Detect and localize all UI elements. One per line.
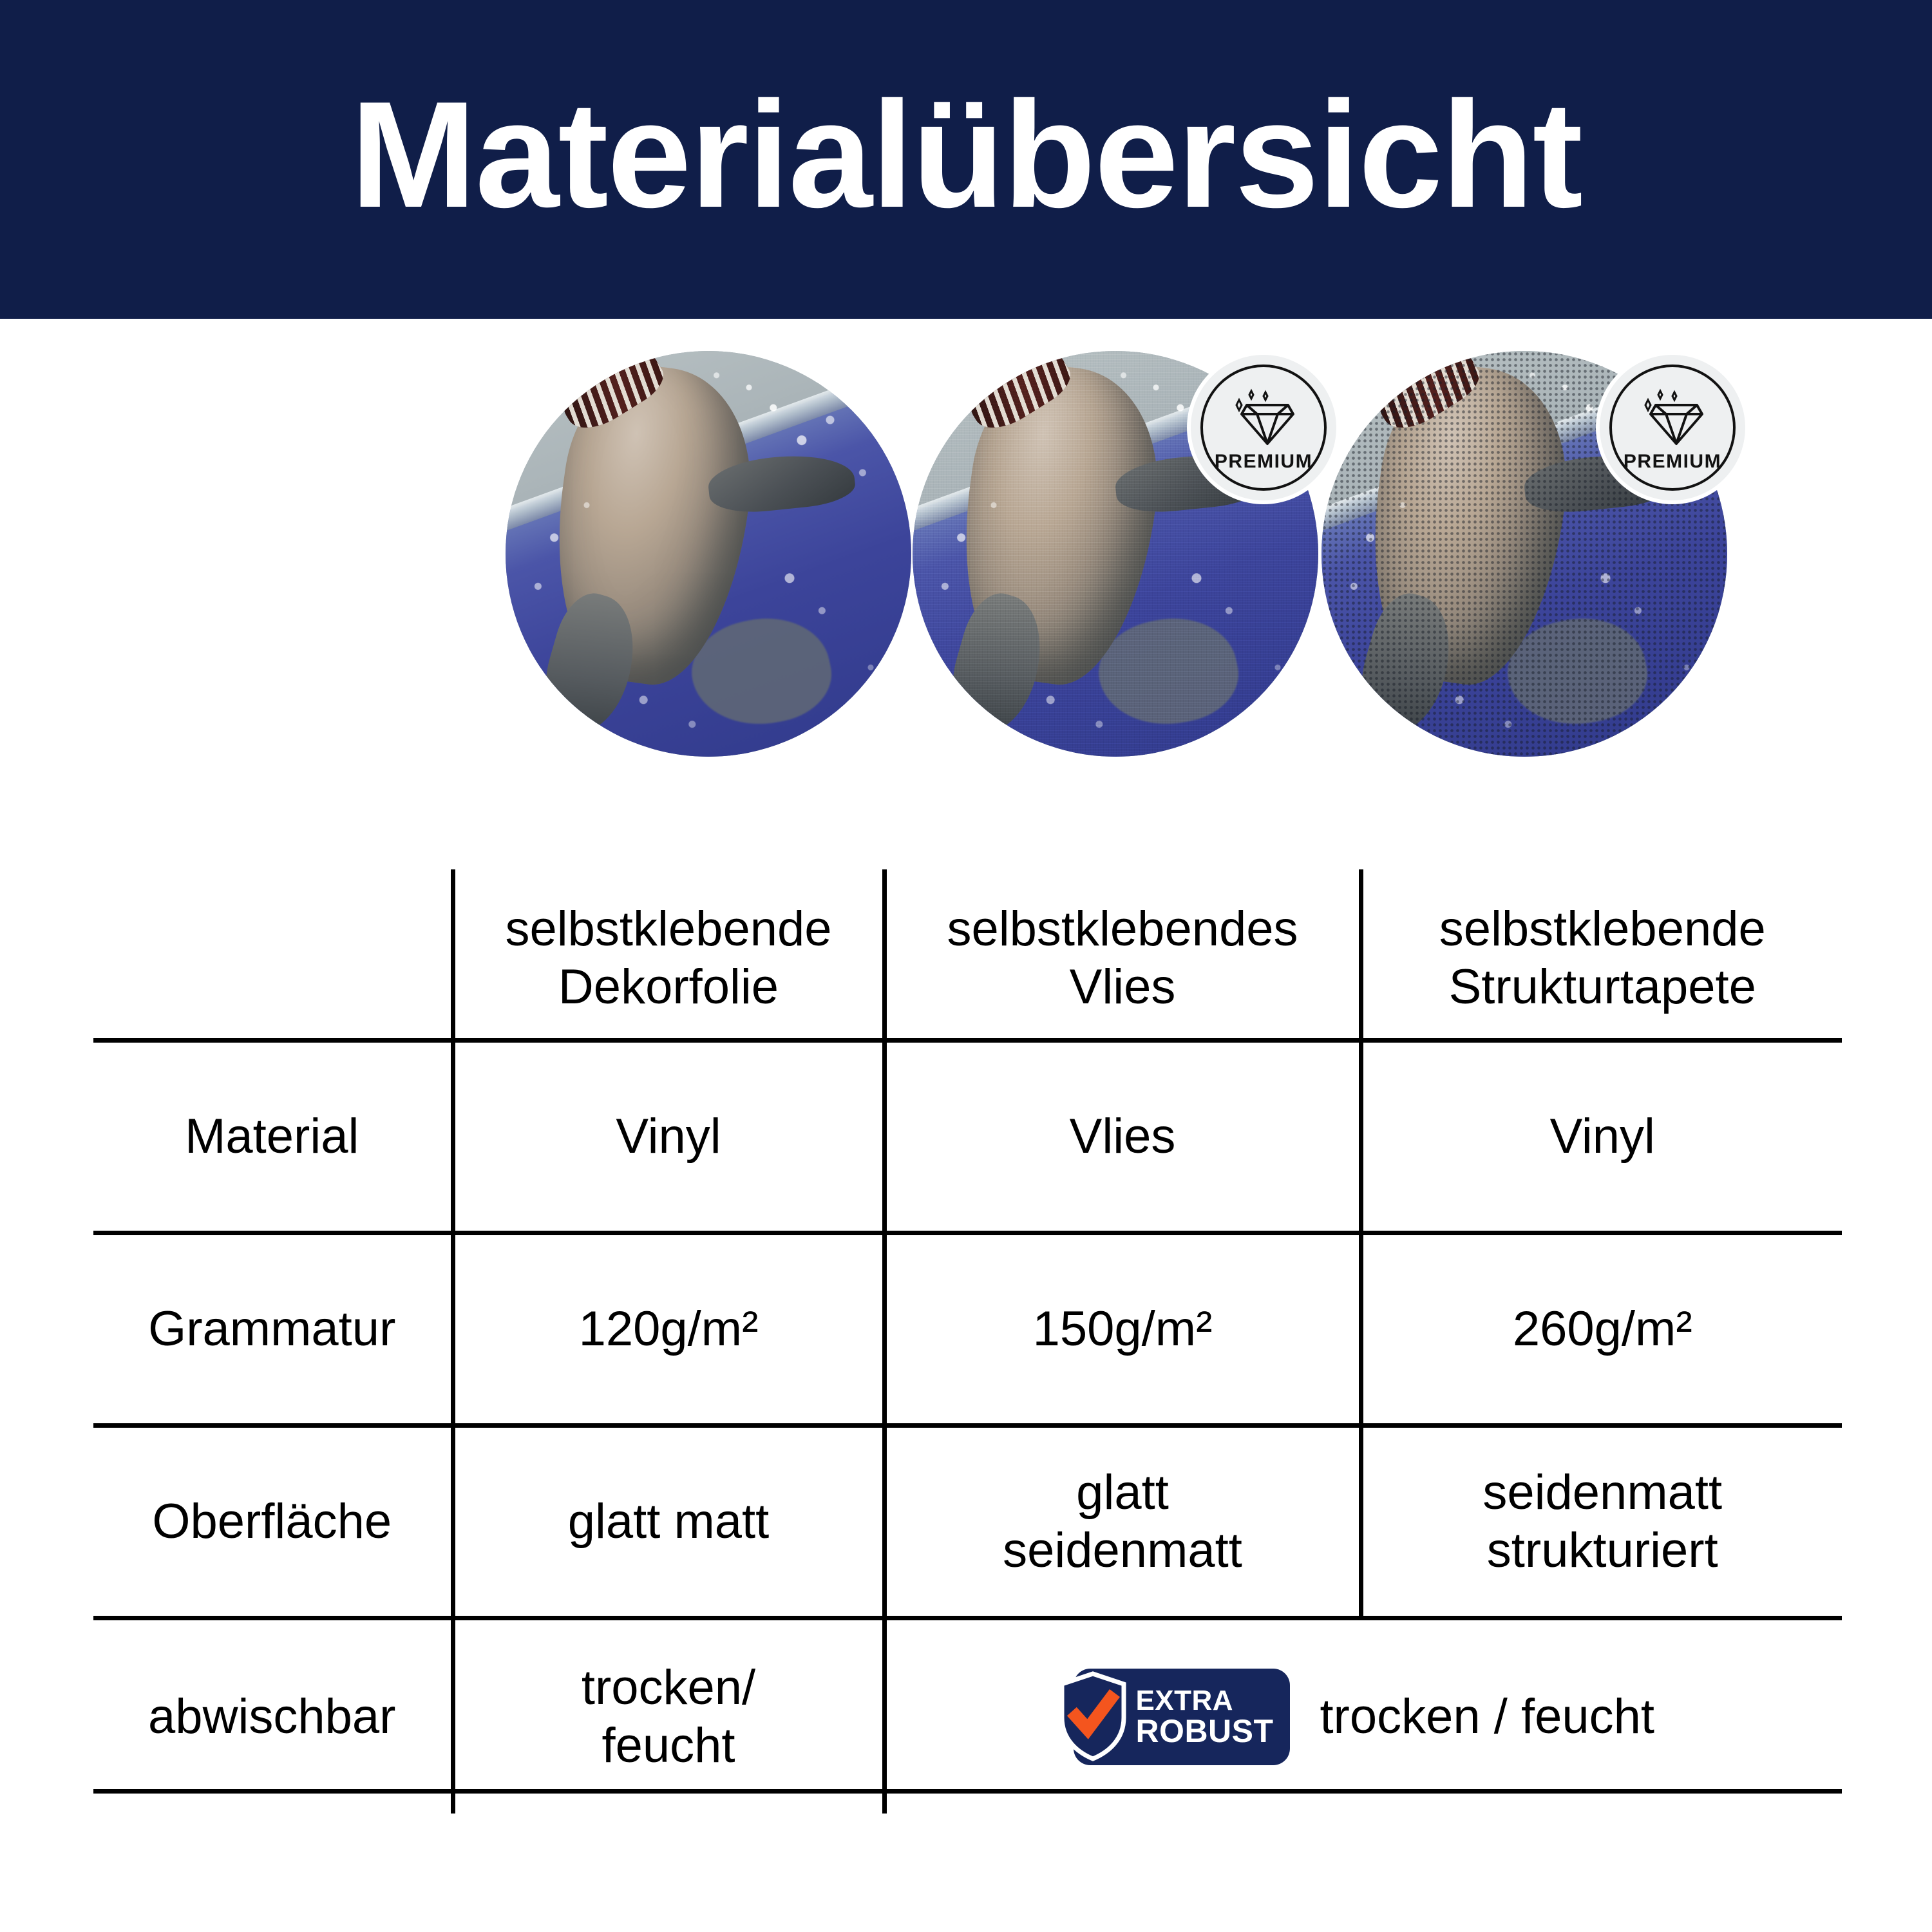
page-title: Materialübersicht bbox=[0, 77, 1932, 232]
premium-badge: PREMIUM bbox=[1191, 355, 1336, 500]
water-spray bbox=[506, 351, 911, 757]
row-label-oberflaeche: Oberfläche bbox=[93, 1426, 453, 1618]
column-header-line2: Strukturtapete bbox=[1372, 958, 1833, 1016]
table-row: Material Vinyl Vlies Vinyl bbox=[93, 1041, 1842, 1233]
row-label-abwischbar: abwischbar bbox=[93, 1618, 453, 1814]
value-line2: seidenmatt bbox=[896, 1522, 1350, 1580]
cell-material-dekorfolie: Vinyl bbox=[453, 1041, 884, 1233]
column-header-line1: selbstklebende bbox=[1372, 900, 1833, 958]
table-header-row: selbstklebende Dekorfolie selbstklebende… bbox=[93, 869, 1842, 1041]
row-label-grammatur: Grammatur bbox=[93, 1233, 453, 1426]
column-header-strukturtapete: selbstklebende Strukturtapete bbox=[1361, 869, 1842, 1041]
cell-grammatur-dekorfolie: 120g/m² bbox=[453, 1233, 884, 1426]
table-row: Grammatur 120g/m² 150g/m² 260g/m² bbox=[93, 1233, 1842, 1426]
cell-oberflaeche-vlies: glatt seidenmatt bbox=[884, 1426, 1361, 1618]
table-row: abwischbar trocken/ feucht bbox=[93, 1618, 1842, 1814]
premium-badge: PREMIUM bbox=[1600, 355, 1745, 500]
product-thumbnail-dekorfolie[interactable] bbox=[506, 351, 911, 757]
cell-grammatur-vlies: 150g/m² bbox=[884, 1233, 1361, 1426]
cell-oberflaeche-strukturtapete: seidenmatt strukturiert bbox=[1361, 1426, 1842, 1618]
column-header-line1: selbstklebende bbox=[464, 900, 873, 958]
column-header-dekorfolie: selbstklebende Dekorfolie bbox=[453, 869, 884, 1041]
extra-robust-badge: EXTRA ROBUST bbox=[1074, 1669, 1290, 1765]
cell-material-strukturtapete: Vinyl bbox=[1361, 1041, 1842, 1233]
premium-badge-label: PREMIUM bbox=[1215, 452, 1312, 471]
column-header-line2: Dekorfolie bbox=[464, 958, 873, 1016]
header-banner: Materialübersicht bbox=[0, 0, 1932, 319]
cell-abwischbar-value: trocken / feucht bbox=[1320, 1688, 1654, 1746]
cell-grammatur-strukturtapete: 260g/m² bbox=[1361, 1233, 1842, 1426]
value-line1: glatt matt bbox=[464, 1493, 873, 1551]
value-line1: glatt bbox=[896, 1464, 1350, 1522]
table-bottom-rule bbox=[93, 1789, 1842, 1794]
extra-robust-line1: EXTRA bbox=[1135, 1687, 1273, 1715]
product-image-row: PREMIUM bbox=[0, 351, 1932, 763]
cell-abwischbar-dekorfolie: trocken/ feucht bbox=[453, 1618, 884, 1814]
table-row: Oberfläche glatt matt glatt seidenmatt s… bbox=[93, 1426, 1842, 1618]
diamond-icon bbox=[1636, 388, 1709, 451]
value-line1: seidenmatt bbox=[1372, 1464, 1833, 1522]
value-line2: strukturiert bbox=[1372, 1522, 1833, 1580]
cell-abwischbar-merged: EXTRA ROBUST trocken / feucht bbox=[884, 1618, 1842, 1814]
product-thumbnail-strukturtapete[interactable]: PREMIUM bbox=[1321, 351, 1727, 757]
product-thumbnail-vlies[interactable]: PREMIUM bbox=[913, 351, 1318, 757]
material-spec-table-container: selbstklebende Dekorfolie selbstklebende… bbox=[93, 869, 1842, 1790]
shield-check-icon bbox=[1057, 1671, 1129, 1761]
column-header-line1: selbstklebendes bbox=[896, 900, 1350, 958]
column-header-line2: Vlies bbox=[896, 958, 1350, 1016]
cell-oberflaeche-dekorfolie: glatt matt bbox=[453, 1426, 884, 1618]
cell-material-vlies: Vlies bbox=[884, 1041, 1361, 1233]
row-label-material: Material bbox=[93, 1041, 453, 1233]
diamond-icon bbox=[1227, 388, 1300, 451]
value-line1: trocken/ bbox=[464, 1659, 873, 1717]
shark-photo bbox=[506, 351, 911, 757]
column-header-vlies: selbstklebendes Vlies bbox=[884, 869, 1361, 1041]
extra-robust-line2: ROBUST bbox=[1135, 1715, 1273, 1747]
header-corner-cell bbox=[93, 869, 453, 1041]
material-spec-table: selbstklebende Dekorfolie selbstklebende… bbox=[93, 869, 1842, 1814]
value-line2: feucht bbox=[464, 1717, 873, 1775]
premium-badge-label: PREMIUM bbox=[1624, 452, 1721, 471]
